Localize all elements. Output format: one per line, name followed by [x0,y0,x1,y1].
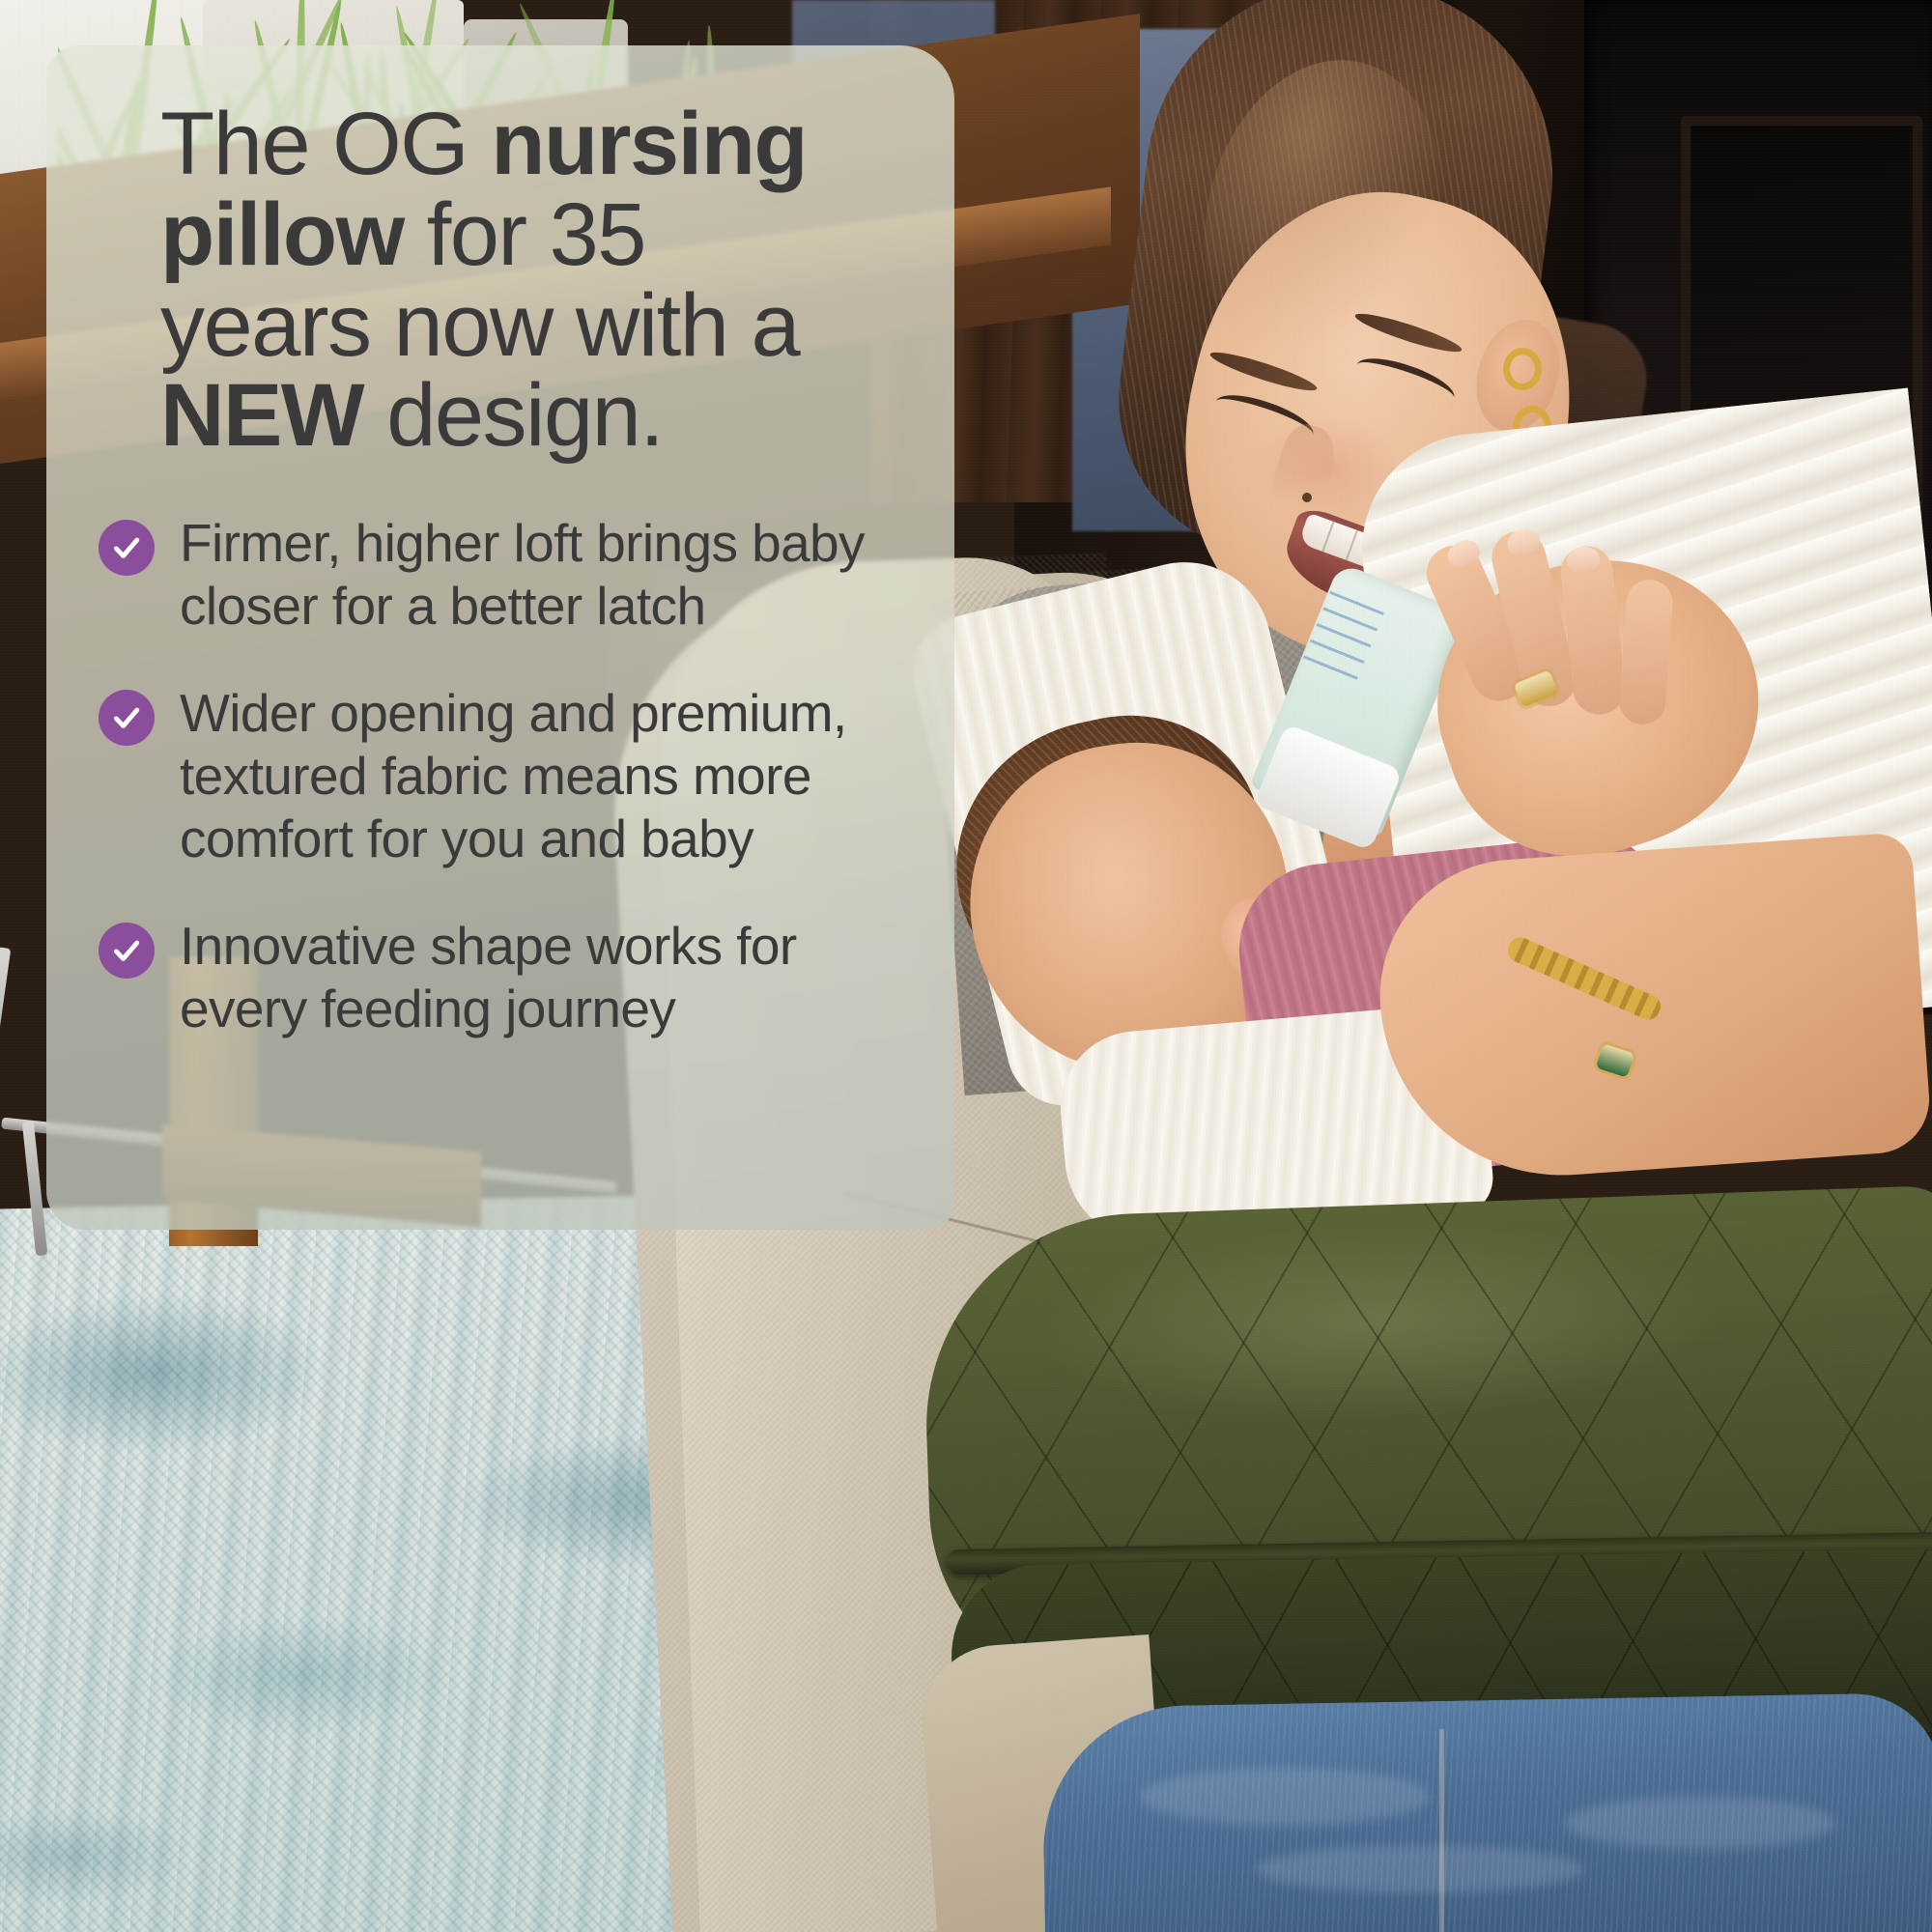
check-icon [99,520,155,576]
tooth-divider [1321,522,1334,553]
check-icon [99,923,155,979]
headline-bold-new: NEW [160,366,363,465]
feature-text: Firmer, higher loft brings baby closer f… [180,512,875,638]
promo-overlay-card: The OG nursing pillow for 35 years now w… [46,45,954,1230]
chair-metal-leg-1 [0,947,11,1188]
jeans-fold [1140,1768,1430,1826]
list-item: Firmer, higher loft brings baby closer f… [99,512,902,638]
list-item: Innovative shape works for every feeding… [99,915,902,1040]
page-title: The OG nursing pillow for 35 years now w… [160,99,837,462]
jeans-fold [1256,1845,1584,1893]
marketing-image-canvas: The OG nursing pillow for 35 years now w… [0,0,1932,1932]
check-icon [99,690,155,746]
jeans-fold [1565,1797,1835,1850]
headline-part-1: The OG [160,95,491,193]
tooth-divider [1346,530,1358,561]
jeans-seam [1439,1729,1444,1932]
earring-upper [1503,348,1542,390]
feature-text: Wider opening and premium, textured fabr… [180,682,875,870]
headline-part-5: design. [363,366,663,465]
feature-list: Firmer, higher loft brings baby closer f… [99,512,902,1039]
list-item: Wider opening and premium, textured fabr… [99,682,902,870]
feature-text: Innovative shape works for every feeding… [180,915,875,1040]
